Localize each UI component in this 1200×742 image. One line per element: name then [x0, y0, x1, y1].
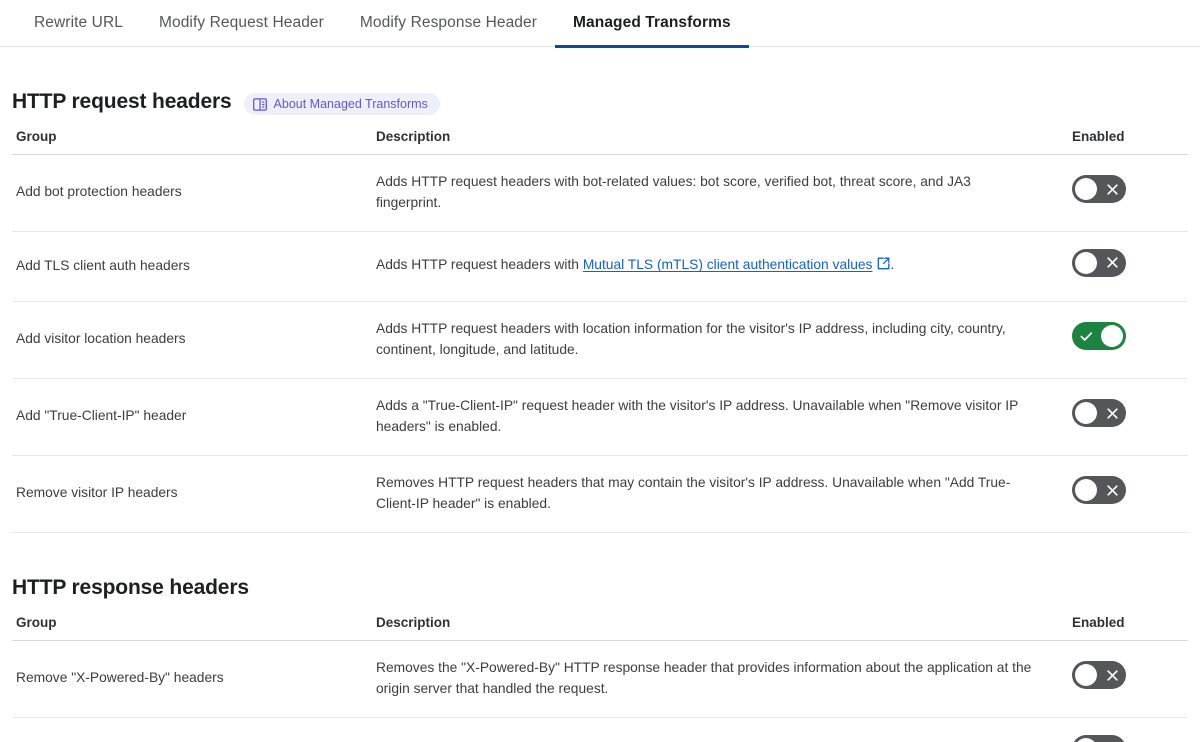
- row-group-name: Add TLS client auth headers: [12, 231, 372, 301]
- row-description: Adds several security-related HTTP respo…: [372, 717, 1072, 742]
- external-link-icon[interactable]: [877, 256, 890, 277]
- page-title: HTTP request headers: [12, 90, 232, 114]
- toggle-add-security-headers[interactable]: [1072, 735, 1126, 742]
- row-description: Adds HTTP request headers with bot-relat…: [372, 155, 1072, 232]
- toggle-remove-x-powered-by-headers[interactable]: [1072, 661, 1126, 689]
- response-headers-table: Group Description Enabled Remove "X-Powe…: [12, 611, 1188, 742]
- description-text-after: .: [890, 257, 894, 272]
- tab-modify-request-header[interactable]: Modify Request Header: [141, 0, 342, 47]
- column-header-description: Description: [372, 125, 1072, 155]
- table-header-row: Group Description Enabled: [12, 611, 1188, 641]
- check-icon: [1073, 322, 1099, 350]
- table-row: Add "True-Client-IP" header Adds a "True…: [12, 378, 1188, 455]
- toggle-knob: [1101, 325, 1123, 347]
- table-row: Add bot protection headers Adds HTTP req…: [12, 155, 1188, 232]
- response-section-title: HTTP response headers: [12, 576, 249, 600]
- toggle-remove-visitor-ip-headers[interactable]: [1072, 476, 1126, 504]
- column-header-group: Group: [12, 611, 372, 641]
- row-group-name: Add visitor location headers: [12, 301, 372, 378]
- request-section-header: HTTP request headers About Managed Trans…: [12, 85, 1188, 119]
- description-text-before: Adds HTTP request headers with: [376, 257, 583, 272]
- tab-bar: Rewrite URL Modify Request Header Modify…: [0, 0, 1200, 47]
- book-icon: [253, 98, 267, 111]
- row-group-name: Remove visitor IP headers: [12, 455, 372, 532]
- toggle-knob: [1075, 738, 1097, 742]
- row-description: Removes the "X-Powered-By" HTTP response…: [372, 640, 1072, 717]
- tab-managed-transforms[interactable]: Managed Transforms: [555, 0, 749, 47]
- row-enabled-cell: [1072, 155, 1188, 232]
- row-description: Adds a "True-Client-IP" request header w…: [372, 378, 1072, 455]
- row-group-name: Add bot protection headers: [12, 155, 372, 232]
- column-header-description: Description: [372, 611, 1072, 641]
- column-header-enabled: Enabled: [1072, 125, 1188, 155]
- close-icon: [1099, 249, 1125, 277]
- toggle-knob: [1075, 252, 1097, 274]
- table-row: Remove visitor IP headers Removes HTTP r…: [12, 455, 1188, 532]
- column-header-enabled: Enabled: [1072, 611, 1188, 641]
- toggle-knob: [1075, 178, 1097, 200]
- page-body: HTTP request headers About Managed Trans…: [0, 85, 1200, 742]
- row-enabled-cell: [1072, 455, 1188, 532]
- row-enabled-cell: [1072, 231, 1188, 301]
- column-header-group: Group: [12, 125, 372, 155]
- close-icon: [1099, 175, 1125, 203]
- toggle-add-visitor-location-headers[interactable]: [1072, 322, 1126, 350]
- row-enabled-cell: [1072, 301, 1188, 378]
- toggle-add-true-client-ip-header[interactable]: [1072, 399, 1126, 427]
- table-row: Add TLS client auth headers Adds HTTP re…: [12, 231, 1188, 301]
- about-managed-transforms-badge[interactable]: About Managed Transforms: [244, 93, 440, 115]
- close-icon: [1099, 399, 1125, 427]
- response-section-header: HTTP response headers: [12, 571, 1188, 605]
- toggle-knob: [1075, 664, 1097, 686]
- table-row: Remove "X-Powered-By" headers Removes th…: [12, 640, 1188, 717]
- row-group-name: Add security headers: [12, 717, 372, 742]
- row-group-name: Add "True-Client-IP" header: [12, 378, 372, 455]
- row-description: Adds HTTP request headers with location …: [372, 301, 1072, 378]
- request-headers-table: Group Description Enabled Add bot protec…: [12, 125, 1188, 533]
- row-description: Adds HTTP request headers with Mutual TL…: [372, 231, 1072, 301]
- table-header-row: Group Description Enabled: [12, 125, 1188, 155]
- row-enabled-cell: [1072, 640, 1188, 717]
- row-description: Removes HTTP request headers that may co…: [372, 455, 1072, 532]
- close-icon: [1099, 661, 1125, 689]
- section-http-request-headers: HTTP request headers About Managed Trans…: [12, 85, 1188, 533]
- tab-rewrite-url[interactable]: Rewrite URL: [24, 0, 141, 47]
- mtls-docs-link[interactable]: Mutual TLS (mTLS) client authentication …: [583, 257, 873, 272]
- row-enabled-cell: [1072, 378, 1188, 455]
- close-icon: [1099, 476, 1125, 504]
- section-http-response-headers: HTTP response headers Group Description …: [12, 571, 1188, 742]
- toggle-add-tls-client-auth-headers[interactable]: [1072, 249, 1126, 277]
- row-enabled-cell: [1072, 717, 1188, 742]
- toggle-add-bot-protection-headers[interactable]: [1072, 175, 1126, 203]
- about-managed-transforms-label: About Managed Transforms: [274, 97, 428, 111]
- close-icon: [1099, 735, 1125, 742]
- table-row: Add visitor location headers Adds HTTP r…: [12, 301, 1188, 378]
- toggle-knob: [1075, 479, 1097, 501]
- toggle-knob: [1075, 402, 1097, 424]
- row-group-name: Remove "X-Powered-By" headers: [12, 640, 372, 717]
- tab-modify-response-header[interactable]: Modify Response Header: [342, 0, 555, 47]
- table-row: Add security headers Adds several securi…: [12, 717, 1188, 742]
